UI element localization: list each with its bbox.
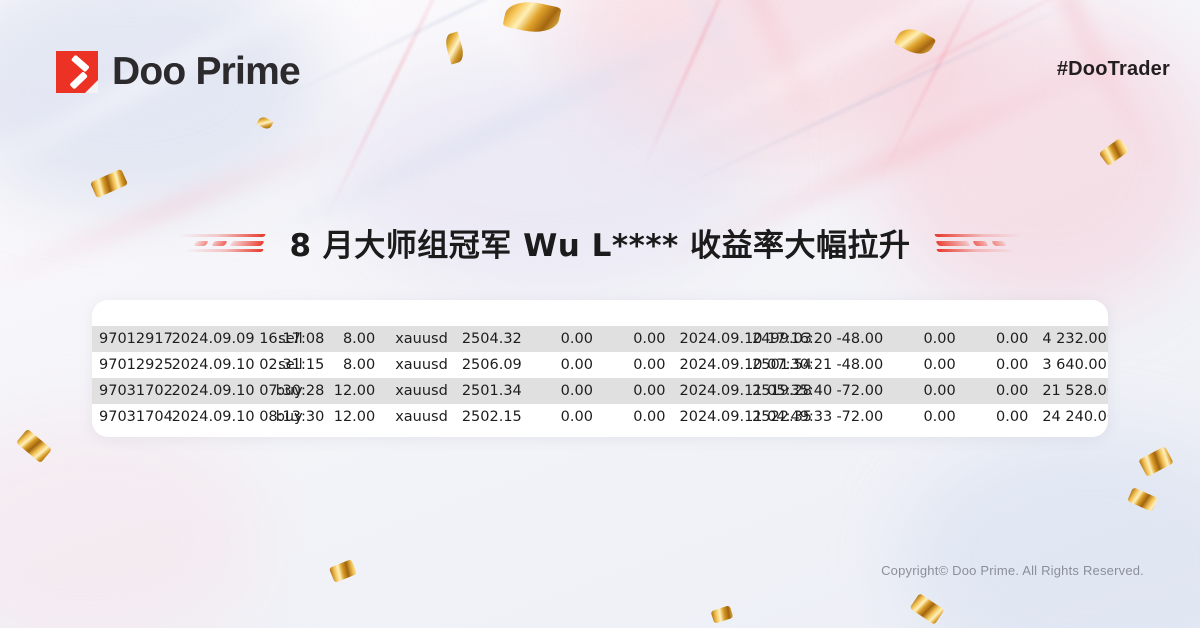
cell-close-time: 2024.09.11 05:35:40	[673, 378, 746, 404]
cell-taxes: 0.00	[890, 352, 963, 378]
cell-close-price: 2522.35	[745, 404, 818, 430]
cell-s-l: 0.00	[527, 404, 600, 430]
cell-taxes: 0.00	[890, 378, 963, 404]
cell-open-price: 2502.15	[455, 404, 528, 430]
cell-open-time: 2024.09.09 16:17:08	[165, 326, 238, 352]
doo-prime-logo-icon	[56, 51, 98, 93]
streak-1	[263, 0, 557, 117]
cell-taxes: 0.00	[890, 404, 963, 430]
cell-open-time: 2024.09.10 08:13:30	[165, 404, 238, 430]
cell-s-l: 0.00	[527, 326, 600, 352]
glow-pink-right	[880, 10, 1200, 310]
cell-symbol: xauusd	[382, 326, 455, 352]
cell-t-p: 0.00	[600, 352, 673, 378]
cell-swap: 0.00	[963, 326, 1036, 352]
trade-history-card: 970129172024.09.09 16:17:08sell8.00xauus…	[92, 300, 1108, 437]
table-row[interactable]: 970317042024.09.10 08:13:30buy12.00xauus…	[92, 404, 1108, 430]
cell-swap: 0.00	[963, 378, 1036, 404]
streak-5	[940, 0, 1160, 174]
cell-ticket: 97012925	[92, 352, 165, 378]
confetti-ribbon-6	[16, 429, 52, 463]
confetti-ribbon-12	[710, 605, 733, 624]
confetti-ribbon-1	[502, 0, 561, 37]
hashtag-label: #DooTrader	[1057, 58, 1170, 81]
confetti-ribbon-13	[256, 115, 273, 131]
cell-profit: 24 240.00	[1035, 404, 1108, 430]
headline-row: 8 月大师组冠军 Wu L**** 收益率大幅拉升	[0, 220, 1200, 265]
hairline-5	[662, 0, 1089, 196]
confetti-ribbon-11	[910, 593, 945, 625]
cell-profit: 3 640.00	[1035, 352, 1108, 378]
cell-open-price: 2506.09	[455, 352, 528, 378]
trade-history-table: 970129172024.09.09 16:17:08sell8.00xauus…	[92, 300, 1108, 430]
cell-t-p: 0.00	[600, 326, 673, 352]
cell-close-time: 2024.09.10 07:30:21	[673, 352, 746, 378]
hairline-3	[877, 0, 1006, 185]
speed-lines-right-icon	[933, 228, 1021, 258]
glow-blue-bottom-right	[900, 430, 1200, 628]
cell-ticket: 97012917	[92, 326, 165, 352]
cell-close-time: 2024.09.10 17:16:20	[673, 326, 746, 352]
hairline-2	[639, 0, 763, 177]
cell-t-p: 0.00	[600, 378, 673, 404]
hairline-6	[847, 0, 1113, 107]
cell-swap: 0.00	[963, 352, 1036, 378]
confetti-ribbon-3	[894, 23, 937, 60]
cell-symbol: xauusd	[382, 404, 455, 430]
cell-open-price: 2504.32	[455, 326, 528, 352]
brand-name: Doo Prime	[112, 50, 300, 94]
confetti-ribbon-5	[90, 169, 128, 198]
cell-s-l: 0.00	[527, 378, 600, 404]
table-top-spacer	[92, 300, 1108, 326]
cell-open-time: 2024.09.10 07:30:28	[165, 378, 238, 404]
cell-close-time: 2024.09.11 04:49:33	[673, 404, 746, 430]
streak-3	[642, 0, 829, 146]
cell-s-l: 0.00	[527, 352, 600, 378]
streak-6	[0, 0, 384, 211]
cell-symbol: xauusd	[382, 378, 455, 404]
confetti-ribbon-2	[443, 32, 466, 65]
glow-pink-bottom-left	[0, 420, 260, 628]
cell-ticket: 97031704	[92, 404, 165, 430]
cell-ticket: 97031702	[92, 378, 165, 404]
hairline-1	[323, 0, 469, 224]
brand-logo[interactable]: Doo Prime	[56, 50, 300, 94]
confetti-ribbon-10	[329, 559, 357, 583]
cell-profit: 21 528.00	[1035, 378, 1108, 404]
cell-close-price: 2501.54	[745, 352, 818, 378]
glow-blue-left	[0, 0, 320, 210]
glow-pink-top	[560, 0, 980, 170]
cell-t-p: 0.00	[600, 404, 673, 430]
cell-close-price: 2519.28	[745, 378, 818, 404]
cell-profit: 4 232.00	[1035, 326, 1108, 352]
speed-lines-left-icon	[179, 228, 267, 258]
streak-8	[591, 0, 1150, 184]
cell-symbol: xauusd	[382, 352, 455, 378]
table-row[interactable]: 970129252024.09.10 02:31:15sell8.00xauus…	[92, 352, 1108, 378]
cell-swap: 0.00	[963, 404, 1036, 430]
promo-banner: Doo Prime #DooTrader 8 月大师组冠军 Wu L**** 收…	[0, 0, 1200, 628]
streak-10	[0, 122, 368, 294]
cell-taxes: 0.00	[890, 326, 963, 352]
confetti-ribbon-8	[1127, 487, 1158, 512]
streak-2	[482, 0, 778, 137]
table-row[interactable]: 970317022024.09.10 07:30:28buy12.00xauus…	[92, 378, 1108, 404]
cell-open-time: 2024.09.10 02:31:15	[165, 352, 238, 378]
cell-close-price: 2499.03	[745, 326, 818, 352]
copyright-text: Copyright© Doo Prime. All Rights Reserve…	[881, 563, 1144, 578]
page-title: 8 月大师组冠军 Wu L**** 收益率大幅拉升	[289, 220, 910, 265]
confetti-ribbon-7	[1138, 446, 1173, 477]
hairline-4	[271, 0, 649, 104]
cell-open-price: 2501.34	[455, 378, 528, 404]
table-row[interactable]: 970129172024.09.09 16:17:08sell8.00xauus…	[92, 326, 1108, 352]
confetti-ribbon-4	[1099, 138, 1129, 166]
